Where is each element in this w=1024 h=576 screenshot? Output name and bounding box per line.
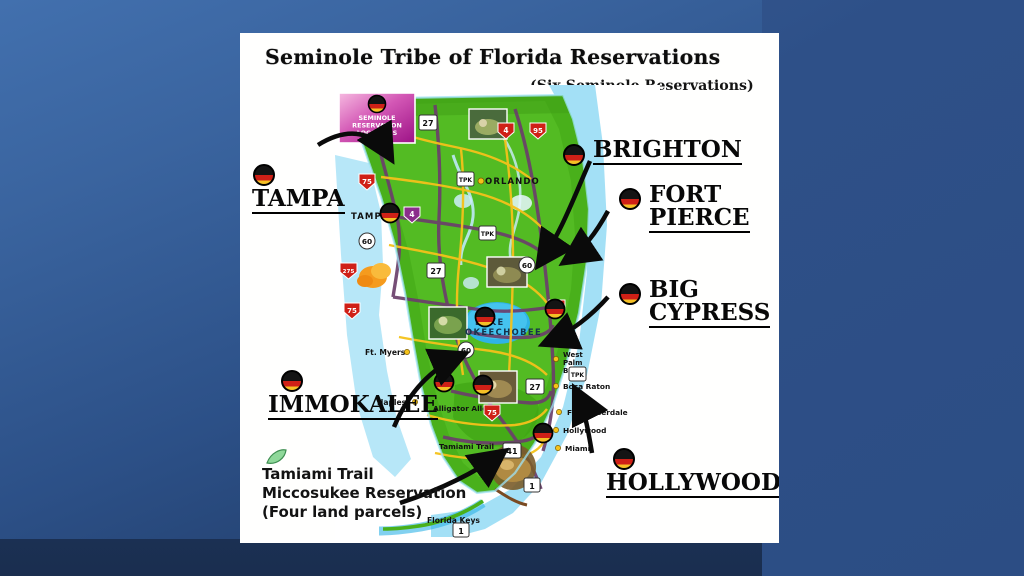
footnote-line-1: Tamiami Trail [262,465,466,484]
seminole-seal-icon [562,143,586,167]
reservation-callout-big-cypress[interactable]: BIG CYPRESS [618,278,770,328]
svg-text:27: 27 [422,119,433,128]
reservation-label-tampa: TAMPA [252,188,345,214]
svg-text:75: 75 [487,409,497,417]
miccosukee-leaf-icon [265,448,287,466]
seminole-seal-icon [280,369,304,393]
seminole-seal-icon [252,163,276,187]
seminole-seal-icon [612,447,636,471]
reservation-callout-fort-pierce[interactable]: FORT PIERCE [618,183,750,233]
svg-text:27: 27 [430,267,441,276]
svg-text:OKEECHOBEE: OKEECHOBEE [465,327,542,337]
seminole-seal-icon [618,282,642,306]
reservation-callout-brighton[interactable]: BRIGHTON [562,139,742,167]
reservation-label-fort-pierce-line2: PIERCE [649,204,750,231]
svg-text:60: 60 [461,346,471,355]
svg-text:Palm: Palm [563,359,582,367]
svg-text:4: 4 [503,126,508,135]
tamiami-footnote: Tamiami Trail Miccosukee Reservation (Fo… [262,465,466,523]
svg-text:41: 41 [506,447,518,456]
footnote-line-3: (Four land parcels) [262,503,466,522]
svg-text:1: 1 [458,527,464,536]
svg-text:Miami: Miami [565,444,590,453]
reservation-callout-tampa[interactable]: TAMPA [252,163,345,214]
svg-text:TPK: TPK [571,372,584,379]
page-title: Seminole Tribe of Florida Reservations [265,45,720,69]
svg-text:60: 60 [522,261,532,270]
slide-background-lower [0,539,762,576]
seminole-seal-icon [618,187,642,211]
svg-text:TPK: TPK [481,231,494,238]
svg-text:TPK: TPK [459,177,472,184]
reservation-label-immokalee: IMMOKALEE [268,394,438,420]
reservation-callout-hollywood[interactable]: HOLLYWOOD [606,447,779,498]
footnote-line-2: Miccosukee Reservation [262,484,466,503]
map-legend-box: SEMINOLE RESERVATION LOCATIONS [339,93,415,143]
reservation-callout-immokalee[interactable]: IMMOKALEE [268,369,438,420]
svg-text:Hollywood: Hollywood [563,426,606,435]
svg-text:Alligator Alley: Alligator Alley [433,404,492,413]
svg-text:4: 4 [409,210,414,219]
svg-text:ORLANDO: ORLANDO [485,177,540,187]
svg-text:West: West [563,351,583,359]
svg-text:Ft. Lauderdale: Ft. Lauderdale [567,408,628,417]
svg-text:Tamiami Trail: Tamiami Trail [439,442,494,451]
svg-text:Boca Raton: Boca Raton [563,382,610,391]
svg-text:27: 27 [529,383,540,392]
slide-canvas: Seminole Tribe of Florida Reservations (… [0,0,1024,576]
reservation-label-brighton: BRIGHTON [593,139,742,165]
svg-text:60: 60 [362,237,372,246]
svg-text:Ft. Myers: Ft. Myers [365,348,406,357]
svg-text:75: 75 [362,178,372,186]
svg-text:275: 275 [343,269,355,275]
svg-text:95: 95 [533,127,543,135]
reservation-label-big-cypress-line2: CYPRESS [649,299,770,326]
svg-text:1: 1 [529,482,535,491]
svg-text:75: 75 [347,307,357,315]
reservation-label-hollywood: HOLLYWOOD [606,472,779,498]
svg-text:LOCATIONS: LOCATIONS [357,129,398,137]
content-card: Seminole Tribe of Florida Reservations (… [240,33,779,543]
